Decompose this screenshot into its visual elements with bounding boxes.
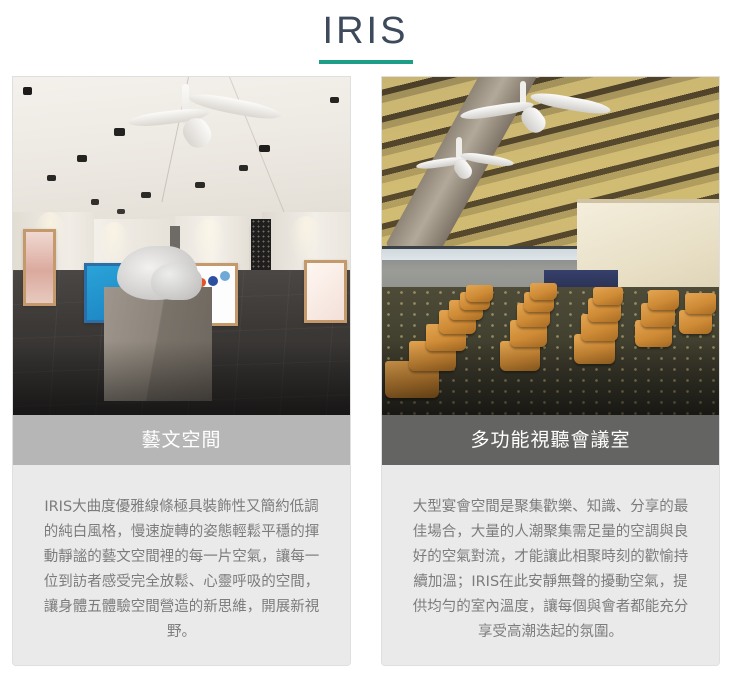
- chair: [679, 310, 713, 334]
- track-light-icon: [195, 182, 205, 188]
- space-card-multifunction-av-meeting-room[interactable]: 多功能視聽會議室 大型宴會空間是聚集歡樂、知識、分享的最佳場合，大量的人潮聚集需…: [381, 76, 720, 666]
- meeting-room-description: 大型宴會空間是聚集歡樂、知識、分享的最佳場合，大量的人潮聚集需足量的空調與良好的…: [408, 495, 693, 645]
- track-light-icon: [141, 192, 151, 198]
- white-sculpture-limb: [151, 263, 202, 300]
- chair: [530, 283, 557, 300]
- meeting-room-photo: [382, 77, 719, 415]
- track-light-icon: [23, 87, 32, 95]
- track-light-icon: [47, 175, 56, 181]
- art-space-caption: 藝文空間: [13, 415, 350, 465]
- track-light-icon: [259, 145, 270, 152]
- track-light-icon: [239, 165, 248, 171]
- art-space-body: IRIS大曲度優雅線條極具裝飾性又簡約低調的純白風格，慢速旋轉的姿態輕鬆平穩的揮…: [13, 465, 350, 665]
- page-title: IRIS: [0, 8, 731, 54]
- chair: [685, 293, 715, 313]
- meeting-room-caption: 多功能視聽會議室: [382, 415, 719, 465]
- track-light-icon: [77, 155, 87, 162]
- sculpture-plinth: [104, 287, 212, 402]
- space-card-art-space[interactable]: 藝文空間 IRIS大曲度優雅線條極具裝飾性又簡約低調的純白風格，慢速旋轉的姿態輕…: [12, 76, 351, 666]
- art-space-photo: [13, 77, 350, 415]
- chair: [648, 290, 678, 310]
- artwork-frame-lines: [304, 260, 347, 323]
- space-card-grid: 藝文空間 IRIS大曲度優雅線條極具裝飾性又簡約低調的純白風格，慢速旋轉的姿態輕…: [0, 64, 731, 666]
- meeting-room-body: 大型宴會空間是聚集歡樂、知識、分享的最佳場合，大量的人潮聚集需足量的空調與良好的…: [382, 465, 719, 665]
- page-header: IRIS: [0, 0, 731, 64]
- artwork-frame-striped: [23, 229, 56, 306]
- chair: [593, 287, 623, 306]
- track-light-icon: [330, 97, 339, 103]
- art-space-description: IRIS大曲度優雅線條極具裝飾性又簡約低調的純白風格，慢速旋轉的姿態輕鬆平穩的揮…: [39, 495, 324, 645]
- track-light-icon: [117, 209, 125, 214]
- track-light-icon: [91, 199, 99, 205]
- chair-row: [382, 77, 719, 415]
- track-light-icon: [114, 128, 125, 136]
- chair: [466, 285, 493, 302]
